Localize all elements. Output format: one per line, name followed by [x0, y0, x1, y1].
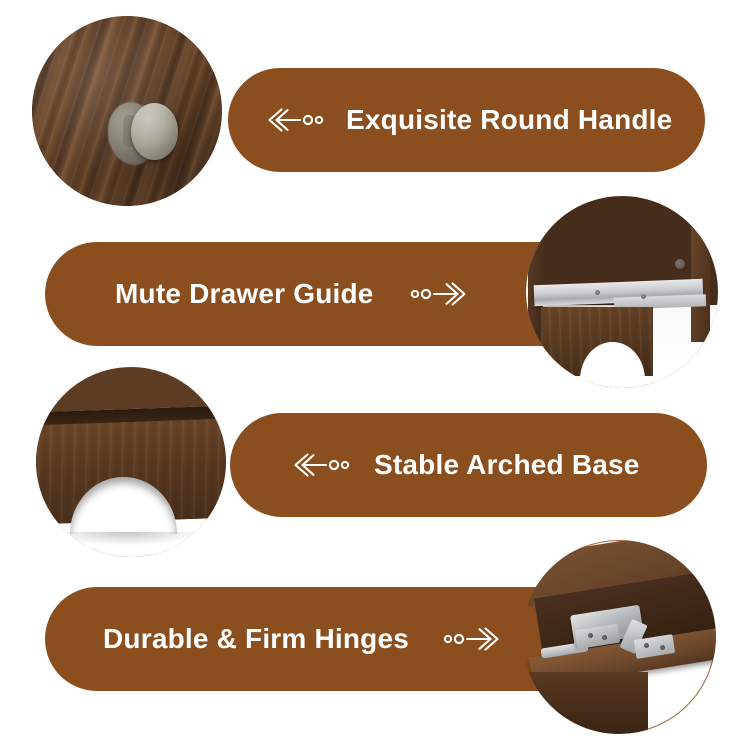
feature-banner-round-handle: Exquisite Round Handle	[228, 68, 705, 172]
feature-photo-drawer-guide	[526, 196, 718, 388]
cabinet-right-post	[691, 204, 710, 342]
arrow-left-icon	[266, 105, 324, 135]
cabinet-top-drawer	[36, 367, 226, 412]
cabinet-lower-panel	[522, 672, 648, 734]
feature-photo-arched-base	[36, 367, 226, 557]
feature-photo-firm-hinges	[522, 540, 716, 734]
feature-label-drawer-guide: Mute Drawer Guide	[115, 280, 374, 308]
photo-shading	[32, 16, 222, 206]
arrow-right-icon	[443, 624, 501, 654]
arrow-right-icon	[410, 279, 468, 309]
arrow-left-icon	[292, 450, 350, 480]
feature-photo-round-handle	[32, 16, 222, 206]
feature-label-arched-base: Stable Arched Base	[374, 451, 640, 479]
floor-shadow	[51, 532, 203, 545]
feature-infographic: Exquisite Round Handle Mute Drawer Guide	[0, 0, 750, 750]
feature-banner-arched-base: Stable Arched Base	[230, 413, 707, 517]
hinge-screw-hole	[602, 635, 607, 640]
feature-label-firm-hinges: Durable & Firm Hinges	[103, 625, 409, 653]
hinge-screw-hole	[660, 645, 665, 650]
feature-label-round-handle: Exquisite Round Handle	[346, 106, 672, 134]
